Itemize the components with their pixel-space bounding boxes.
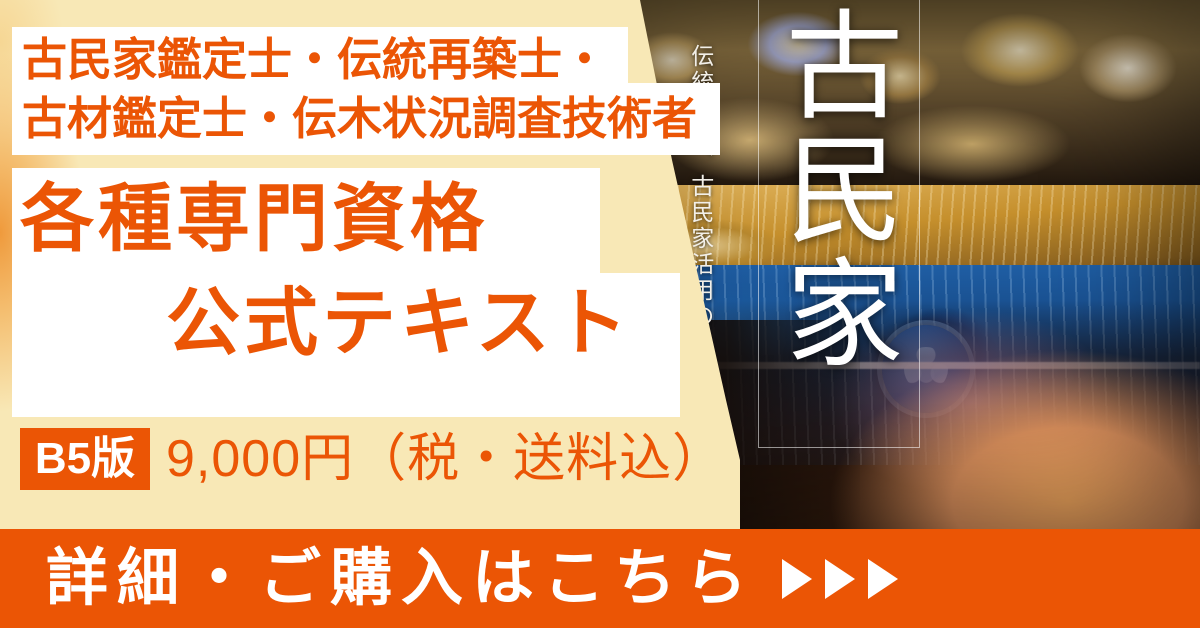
triangle-right-icon — [782, 559, 812, 599]
product-title-line-1: 各種専門資格 — [20, 182, 488, 256]
triangle-right-icon — [825, 559, 855, 599]
triangle-right-icon — [868, 559, 898, 599]
headline-line-2: 古材鑑定士・伝木状況調査技術者 — [18, 89, 720, 148]
cover-title: 古民家 — [776, 4, 900, 376]
qualification-headline: 古民家鑑定士・伝統再築士・ 古材鑑定士・伝木状況調査技術者 — [18, 30, 720, 152]
cta-arrow-group — [782, 559, 898, 599]
price-text: 9,000円（税・送料込） — [166, 430, 725, 488]
cta-label: 詳細・ご購入はこちら — [46, 529, 756, 628]
product-title-line-2: 公式テキスト — [166, 286, 632, 360]
format-badge: B5版 — [20, 428, 150, 490]
cta-bar[interactable]: 詳細・ご購入はこちら — [0, 529, 1200, 628]
headline-line-1: 古民家鑑定士・伝統再築士・ — [18, 30, 720, 89]
promo-banner: 古民家 伝統構法、古民家活用のための調査と再生の 古民家鑑定士・伝統再築士・ 古… — [0, 0, 1200, 628]
